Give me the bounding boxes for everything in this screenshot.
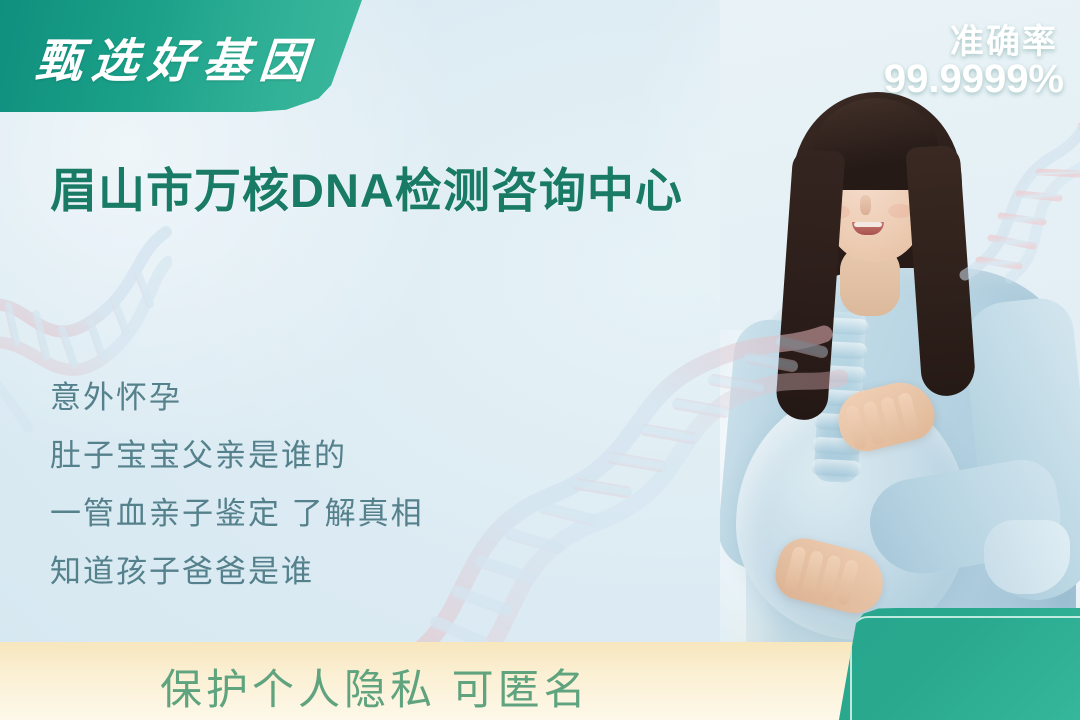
copy-line: 肚子宝宝父亲是谁的 — [50, 430, 424, 475]
brand-banner: 甄选好基因 — [0, 0, 362, 112]
woman-nose — [860, 195, 871, 215]
copy-line: 一管血亲子鉴定 了解真相 — [50, 488, 424, 533]
accuracy-badge — [834, 608, 1080, 720]
woman-cheek-right — [888, 204, 912, 218]
accuracy-badge-value: 99.9999% — [884, 57, 1064, 102]
copy-line: 意外怀孕 — [50, 372, 424, 417]
woman-teeth — [854, 222, 882, 227]
accuracy-badge-label: 准确率 — [950, 14, 1058, 63]
woman-cuff-right — [984, 520, 1070, 594]
privacy-tagline: 保护个人隐私 可匿名 — [160, 656, 590, 717]
copy-line: 知道孩子爸爸是谁 — [50, 546, 424, 591]
brand-logo-text: 甄选好基因 — [33, 22, 319, 91]
promo-copy-block: 意外怀孕 肚子宝宝父亲是谁的 一管血亲子鉴定 了解真相 知道孩子爸爸是谁 — [50, 372, 424, 591]
page-title: 眉山市万核DNA检测咨询中心 — [50, 152, 683, 221]
promotional-poster: 甄选好基因 眉山市万核DNA检测咨询中心 意外怀孕 肚子宝宝父亲是谁的 一管血亲… — [0, 0, 1080, 720]
